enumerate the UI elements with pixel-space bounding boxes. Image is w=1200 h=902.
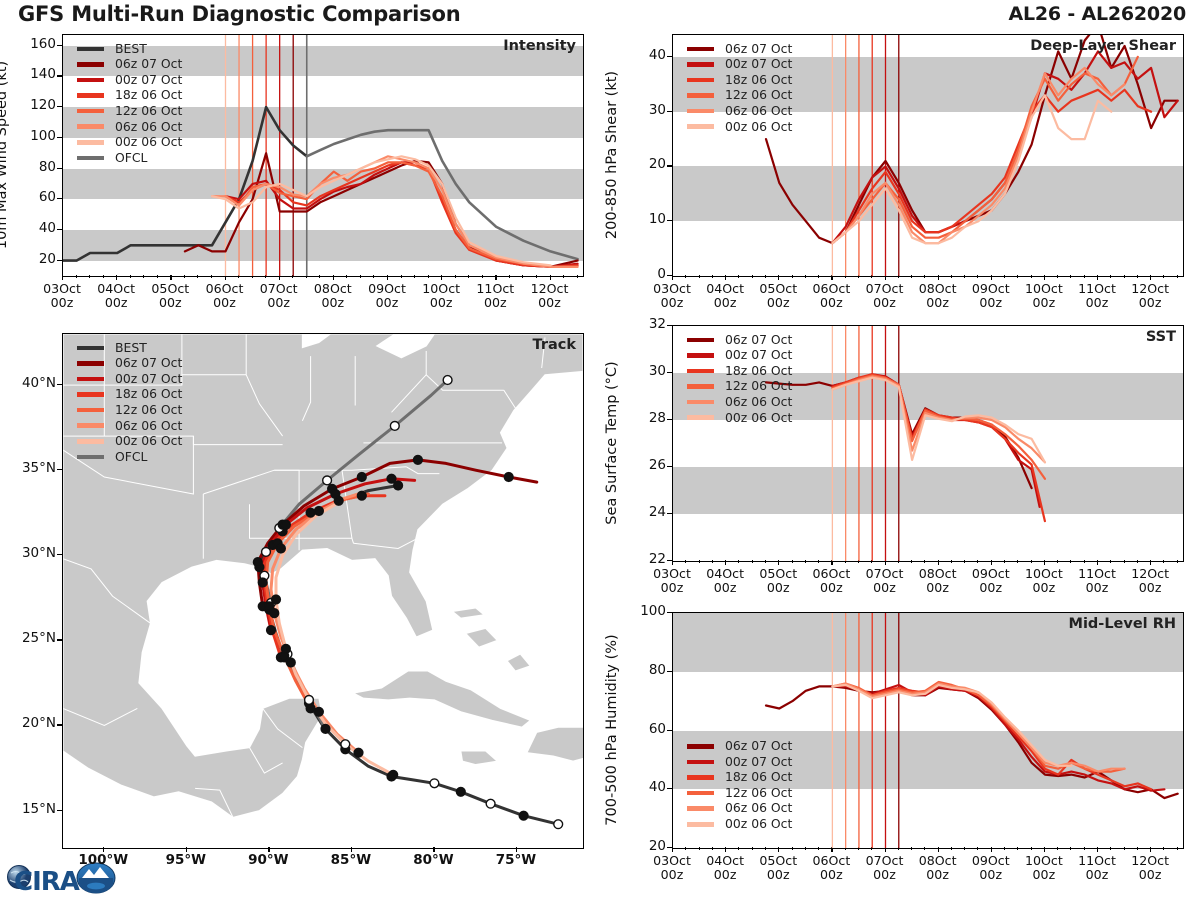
shear-y-axis-label: 200-850 hPa Shear (kt) (604, 70, 620, 238)
legend-row: 00z 06 Oct (77, 135, 182, 151)
legend-swatch-5 (77, 109, 104, 114)
x-tick-hour: 00z (820, 867, 843, 882)
track-marker-open (430, 779, 439, 788)
intensity-y-axis-label: 10m Max Wind Speed (kt) (0, 60, 10, 248)
legend-row: 12z 06 Oct (687, 88, 792, 104)
legend-row: 12z 06 Oct (687, 785, 792, 801)
legend-row: 18z 06 Oct (687, 770, 792, 786)
x-tick-hour: 00z (159, 295, 182, 310)
legend-row: 18z 06 Oct (77, 387, 182, 403)
sst-title: SST (1146, 329, 1176, 345)
track-marker-filled (354, 748, 363, 757)
shear-y-tick: 20 (624, 156, 666, 172)
y-tickmark (667, 111, 672, 112)
intensity-legend: BEST06z 07 Oct00z 07 Oct18z 06 Oct12z 06… (77, 41, 182, 166)
legend-label-7: 00z 06 Oct (115, 435, 182, 447)
x-tick-hour: 00z (979, 867, 1002, 882)
legend-swatch-8 (77, 455, 104, 460)
track-marker-open (262, 548, 271, 557)
sst-y-tick: 30 (624, 363, 666, 379)
svg-text:CIRA: CIRA (14, 867, 80, 897)
shear-y-tick: 10 (624, 211, 666, 227)
legend-swatch-1 (687, 338, 714, 343)
track-marker-open (554, 820, 563, 829)
legend-label-2: 00z 07 Oct (725, 756, 792, 768)
x-tick-hour: 00z (926, 580, 949, 595)
legend-swatch-6 (687, 124, 714, 129)
y-tickmark (667, 466, 672, 467)
track-marker-open (390, 422, 399, 431)
legend-swatch-5 (687, 806, 714, 811)
x-tick-hour: 00z (484, 295, 507, 310)
track-marker-filled (282, 645, 291, 654)
y-tickmark (57, 106, 62, 107)
intensity-panel: IntensityBEST06z 07 Oct00z 07 Oct18z 06 … (62, 34, 584, 277)
legend-swatch-2 (687, 353, 714, 358)
track-marker-open (305, 696, 314, 705)
legend-row: 06z 06 Oct (77, 119, 182, 135)
track-marker-filled (272, 595, 281, 604)
x-tick-hour: 00z (267, 295, 290, 310)
legend-row: 00z 07 Oct (77, 72, 182, 88)
page-title: GFS Multi-Run Diagnostic Comparison (18, 2, 460, 26)
track-marker-filled (277, 544, 286, 553)
track-lat-tick: 15°N (0, 801, 56, 817)
rh-x-tick: 12Oct00z (1115, 854, 1185, 881)
legend-row: 00z 07 Oct (687, 348, 792, 364)
legend-swatch-6 (77, 124, 104, 129)
track-lat-tick: 20°N (0, 715, 56, 731)
legend-row: 06z 07 Oct (687, 738, 792, 754)
intensity-y-tick: 20 (14, 251, 56, 267)
y-tickmark (667, 419, 672, 420)
series-line (832, 68, 1124, 243)
sst-y-tick: 26 (624, 457, 666, 473)
legend-row: 06z 06 Oct (687, 394, 792, 410)
x-tick-hour: 00z (873, 867, 896, 882)
intensity-y-tick: 120 (14, 97, 56, 113)
series-line (832, 685, 1164, 791)
x-tick-hour: 00z (873, 295, 896, 310)
y-tickmark (667, 56, 672, 57)
legend-row: 00z 06 Oct (687, 410, 792, 426)
intensity-y-tick: 60 (14, 189, 56, 205)
track-lon-tick: 75°W (476, 854, 556, 868)
track-legend: BEST06z 07 Oct00z 07 Oct18z 06 Oct12z 06… (77, 340, 182, 465)
lat-tickmark (57, 810, 62, 811)
x-tick-hour: 00z (661, 295, 684, 310)
legend-swatch-2 (687, 760, 714, 765)
legend-swatch-3 (77, 377, 104, 382)
x-tick-hour: 00z (51, 295, 74, 310)
y-tickmark (667, 372, 672, 373)
x-tick-hour: 00z (979, 295, 1002, 310)
legend-swatch-7 (77, 439, 104, 444)
legend-label-4: 12z 06 Oct (725, 787, 792, 799)
x-tick-hour: 00z (1086, 867, 1109, 882)
rh-legend: 06z 07 Oct00z 07 Oct18z 06 Oct12z 06 Oct… (687, 738, 792, 832)
shear-y-tick: 40 (624, 47, 666, 63)
intensity-y-tick: 100 (14, 128, 56, 144)
track-marker-filled (306, 508, 315, 517)
legend-row: 12z 06 Oct (687, 379, 792, 395)
track-lon-tick: 90°W (228, 854, 308, 868)
legend-row: 06z 07 Oct (77, 57, 182, 73)
legend-swatch-2 (77, 361, 104, 366)
track-map-panel: TrackBEST06z 07 Oct00z 07 Oct18z 06 Oct1… (62, 333, 584, 849)
legend-row: 12z 06 Oct (77, 103, 182, 119)
shear-y-tick: 0 (624, 266, 666, 282)
legend-label-6: 00z 06 Oct (725, 412, 792, 424)
legend-label-1: BEST (115, 342, 147, 354)
rh-y-axis-label: 700-500 hPa Humidity (%) (604, 634, 620, 825)
track-lat-tick: 40°N (0, 375, 56, 391)
rh-title: Mid-Level RH (1069, 616, 1176, 632)
x-tick-hour: 00z (1086, 580, 1109, 595)
legend-swatch-4 (77, 93, 104, 98)
shear-x-tick: 12Oct00z (1115, 282, 1185, 309)
legend-swatch-6 (687, 415, 714, 420)
bahamas-landmass (466, 628, 497, 647)
track-marker-filled (357, 473, 366, 482)
track-marker-open (323, 476, 332, 485)
legend-swatch-5 (687, 109, 714, 114)
legend-label-8: OFCL (115, 152, 147, 164)
legend-row: OFCL (77, 449, 182, 465)
track-marker-open (486, 799, 495, 808)
x-tick-hour: 00z (322, 295, 345, 310)
x-tick-hour: 00z (1139, 580, 1162, 595)
legend-row: 18z 06 Oct (687, 363, 792, 379)
legend-row: 00z 07 Oct (77, 371, 182, 387)
x-tick-hour: 00z (767, 580, 790, 595)
legend-label-1: 06z 07 Oct (725, 334, 792, 346)
track-marker-filled (315, 707, 324, 716)
legend-label-6: 00z 06 Oct (725, 818, 792, 830)
track-marker-filled (414, 456, 423, 465)
legend-row: 00z 07 Oct (687, 57, 792, 73)
track-marker-filled (504, 473, 513, 482)
legend-swatch-4 (687, 791, 714, 796)
track-marker-filled (315, 507, 324, 516)
sst-y-tick: 22 (624, 551, 666, 567)
series-line (832, 684, 1151, 790)
y-tickmark (667, 788, 672, 789)
legend-swatch-3 (687, 369, 714, 374)
legend-row: 06z 07 Oct (687, 332, 792, 348)
legend-label-5: 06z 06 Oct (725, 105, 792, 117)
intensity-title: Intensity (503, 38, 576, 54)
legend-row: 00z 06 Oct (77, 434, 182, 450)
cuba-landmass (354, 671, 531, 727)
sst-y-tick: 28 (624, 410, 666, 426)
track-lon-tick: 80°W (393, 854, 473, 868)
y-tickmark (667, 220, 672, 221)
jamaica-landmass (461, 751, 497, 765)
x-tick-hour: 00z (714, 295, 737, 310)
series-line (212, 156, 578, 266)
y-tickmark (57, 137, 62, 138)
legend-row: 00z 06 Oct (687, 119, 792, 135)
legend-label-2: 00z 07 Oct (725, 349, 792, 361)
legend-label-2: 06z 07 Oct (115, 357, 182, 369)
y-tickmark (667, 671, 672, 672)
legend-swatch-7 (77, 140, 104, 145)
legend-row: 00z 07 Oct (687, 754, 792, 770)
legend-swatch-8 (77, 156, 104, 161)
track-marker-filled (286, 658, 295, 667)
shear-y-tick: 30 (624, 102, 666, 118)
legend-label-6: 06z 06 Oct (115, 121, 182, 133)
y-tickmark (57, 229, 62, 230)
rh-y-tick: 80 (624, 662, 666, 678)
x-tick-hour: 00z (1086, 295, 1109, 310)
track-marker-filled (282, 520, 291, 529)
x-tick-hour: 00z (1033, 580, 1056, 595)
legend-swatch-4 (687, 384, 714, 389)
x-tick-hour: 00z (376, 295, 399, 310)
lat-tickmark (57, 724, 62, 725)
storm-id-label: AL26 - AL262020 (1008, 3, 1186, 25)
rh-y-tick: 40 (624, 779, 666, 795)
y-tickmark (57, 198, 62, 199)
x-tick-hour: 00z (873, 580, 896, 595)
legend-row: BEST (77, 340, 182, 356)
x-tick-hour: 00z (926, 295, 949, 310)
legend-swatch-1 (77, 47, 104, 52)
track-lat-tick: 30°N (0, 545, 56, 561)
sst-y-axis-label: Sea Surface Temp (°C) (604, 361, 620, 524)
legend-label-5: 06z 06 Oct (725, 802, 792, 814)
legend-label-1: 06z 07 Oct (725, 43, 792, 55)
bahamas-landmass (507, 654, 530, 671)
track-marker-filled (389, 770, 398, 779)
legend-swatch-3 (77, 78, 104, 83)
legend-label-6: 00z 06 Oct (725, 121, 792, 133)
legend-row: 06z 07 Oct (687, 41, 792, 57)
legend-label-3: 18z 06 Oct (725, 74, 792, 86)
legend-label-4: 18z 06 Oct (115, 388, 182, 400)
lat-tickmark (57, 639, 62, 640)
track-marker-filled (394, 481, 403, 490)
sst-panel: SST06z 07 Oct00z 07 Oct18z 06 Oct12z 06 … (672, 325, 1184, 562)
y-tickmark (667, 513, 672, 514)
x-tick-hour: 00z (714, 580, 737, 595)
x-tick-hour: 00z (661, 867, 684, 882)
y-tickmark (667, 165, 672, 166)
legend-label-1: 06z 07 Oct (725, 740, 792, 752)
rh-panel: Mid-Level RH06z 07 Oct00z 07 Oct18z 06 O… (672, 612, 1184, 849)
legend-label-5: 12z 06 Oct (115, 404, 182, 416)
rh-y-tick: 100 (624, 603, 666, 619)
legend-row: BEST (77, 41, 182, 57)
legend-swatch-5 (687, 400, 714, 405)
legend-swatch-1 (687, 47, 714, 52)
intensity-x-tick: 12Oct00z (515, 282, 585, 309)
series-line (226, 162, 578, 266)
x-tick-hour: 00z (1139, 295, 1162, 310)
track-marker-filled (357, 491, 366, 500)
track-lon-tick: 100°W (63, 854, 143, 868)
legend-swatch-1 (77, 346, 104, 351)
track-marker-filled (456, 787, 465, 796)
y-tickmark (667, 612, 672, 613)
lat-tickmark (57, 469, 62, 470)
track-lat-tick: 25°N (0, 630, 56, 646)
x-tick-hour: 00z (538, 295, 561, 310)
legend-swatch-6 (687, 822, 714, 827)
legend-label-2: 06z 07 Oct (115, 58, 182, 70)
track-lon-tick: 95°W (146, 854, 226, 868)
legend-row: 06z 06 Oct (77, 418, 182, 434)
legend-label-6: 06z 06 Oct (115, 420, 182, 432)
x-tick-hour: 00z (820, 580, 843, 595)
track-marker-filled (253, 558, 262, 567)
legend-swatch-2 (77, 62, 104, 67)
legend-row: 06z 06 Oct (687, 801, 792, 817)
x-tick-hour: 00z (714, 867, 737, 882)
legend-swatch-4 (77, 392, 104, 397)
legend-swatch-3 (687, 775, 714, 780)
track-title: Track (533, 337, 576, 353)
legend-label-7: 00z 06 Oct (115, 136, 182, 148)
x-tick-hour: 00z (213, 295, 236, 310)
x-tick-hour: 00z (926, 867, 949, 882)
y-tickmark (57, 260, 62, 261)
intensity-y-tick: 80 (14, 159, 56, 175)
x-tick-hour: 00z (1139, 867, 1162, 882)
shear-legend: 06z 07 Oct00z 07 Oct18z 06 Oct12z 06 Oct… (687, 41, 792, 135)
x-tick-hour: 00z (105, 295, 128, 310)
track-marker-filled (387, 474, 396, 483)
series-line (832, 375, 1045, 478)
legend-row: 12z 06 Oct (77, 402, 182, 418)
legend-row: OFCL (77, 150, 182, 166)
x-tick-hour: 00z (1033, 867, 1056, 882)
legend-row: 00z 06 Oct (687, 816, 792, 832)
rh-y-tick: 20 (624, 838, 666, 854)
hispaniola-landmass (527, 727, 583, 761)
sst-legend: 06z 07 Oct00z 07 Oct18z 06 Oct12z 06 Oct… (687, 332, 792, 426)
lat-tickmark (57, 384, 62, 385)
y-tickmark (57, 75, 62, 76)
x-tick-hour: 00z (979, 580, 1002, 595)
sst-y-tick: 24 (624, 504, 666, 520)
track-lat-tick: 35°N (0, 460, 56, 476)
legend-label-5: 06z 06 Oct (725, 396, 792, 408)
legend-label-4: 12z 06 Oct (725, 89, 792, 101)
track-marker-filled (519, 811, 528, 820)
legend-row: 06z 06 Oct (687, 103, 792, 119)
track-lon-tick: 85°W (311, 854, 391, 868)
lat-tickmark (57, 554, 62, 555)
bahamas-landmass (453, 608, 484, 618)
x-tick-hour: 00z (1033, 295, 1056, 310)
legend-label-3: 00z 07 Oct (115, 373, 182, 385)
series-line (226, 162, 578, 266)
track-marker-filled (267, 626, 276, 635)
map-border-line (319, 811, 352, 845)
legend-label-4: 12z 06 Oct (725, 380, 792, 392)
legend-label-3: 00z 07 Oct (115, 74, 182, 86)
y-tickmark (667, 325, 672, 326)
track-marker-open (443, 376, 452, 385)
track-marker-open (341, 740, 350, 749)
x-tick-hour: 00z (767, 295, 790, 310)
track-marker-filled (258, 578, 267, 587)
legend-label-5: 12z 06 Oct (115, 105, 182, 117)
legend-label-4: 18z 06 Oct (115, 89, 182, 101)
legend-row: 06z 07 Oct (77, 356, 182, 372)
sst-x-tick: 12Oct00z (1115, 567, 1185, 594)
intensity-y-tick: 140 (14, 66, 56, 82)
legend-label-3: 18z 06 Oct (725, 365, 792, 377)
x-tick-hour: 00z (430, 295, 453, 310)
intensity-y-tick: 160 (14, 36, 56, 52)
y-tickmark (667, 730, 672, 731)
shear-title: Deep-Layer Shear (1030, 38, 1176, 54)
x-tick-hour: 00z (820, 295, 843, 310)
shear-panel: Deep-Layer Shear06z 07 Oct00z 07 Oct18z … (672, 34, 1184, 277)
sst-y-tick: 32 (624, 316, 666, 332)
x-tick-hour: 00z (661, 580, 684, 595)
legend-row: 18z 06 Oct (687, 72, 792, 88)
y-tickmark (57, 45, 62, 46)
track-marker-filled (306, 704, 315, 713)
series-line (185, 153, 578, 267)
legend-label-2: 00z 07 Oct (725, 58, 792, 70)
track-marker-filled (270, 609, 279, 618)
legend-swatch-4 (687, 93, 714, 98)
series-line (832, 374, 1045, 521)
legend-swatch-5 (77, 408, 104, 413)
intensity-y-tick: 40 (14, 220, 56, 236)
rh-y-tick: 60 (624, 721, 666, 737)
track-marker-filled (331, 490, 340, 499)
legend-label-3: 18z 06 Oct (725, 771, 792, 783)
legend-swatch-6 (77, 423, 104, 428)
legend-swatch-2 (687, 62, 714, 67)
x-tick-hour: 00z (767, 867, 790, 882)
y-tickmark (57, 168, 62, 169)
track-marker-filled (321, 725, 330, 734)
legend-swatch-3 (687, 78, 714, 83)
legend-row: 18z 06 Oct (77, 88, 182, 104)
series-line (226, 162, 578, 266)
legend-label-8: OFCL (115, 451, 147, 463)
legend-swatch-1 (687, 744, 714, 749)
legend-label-1: BEST (115, 43, 147, 55)
